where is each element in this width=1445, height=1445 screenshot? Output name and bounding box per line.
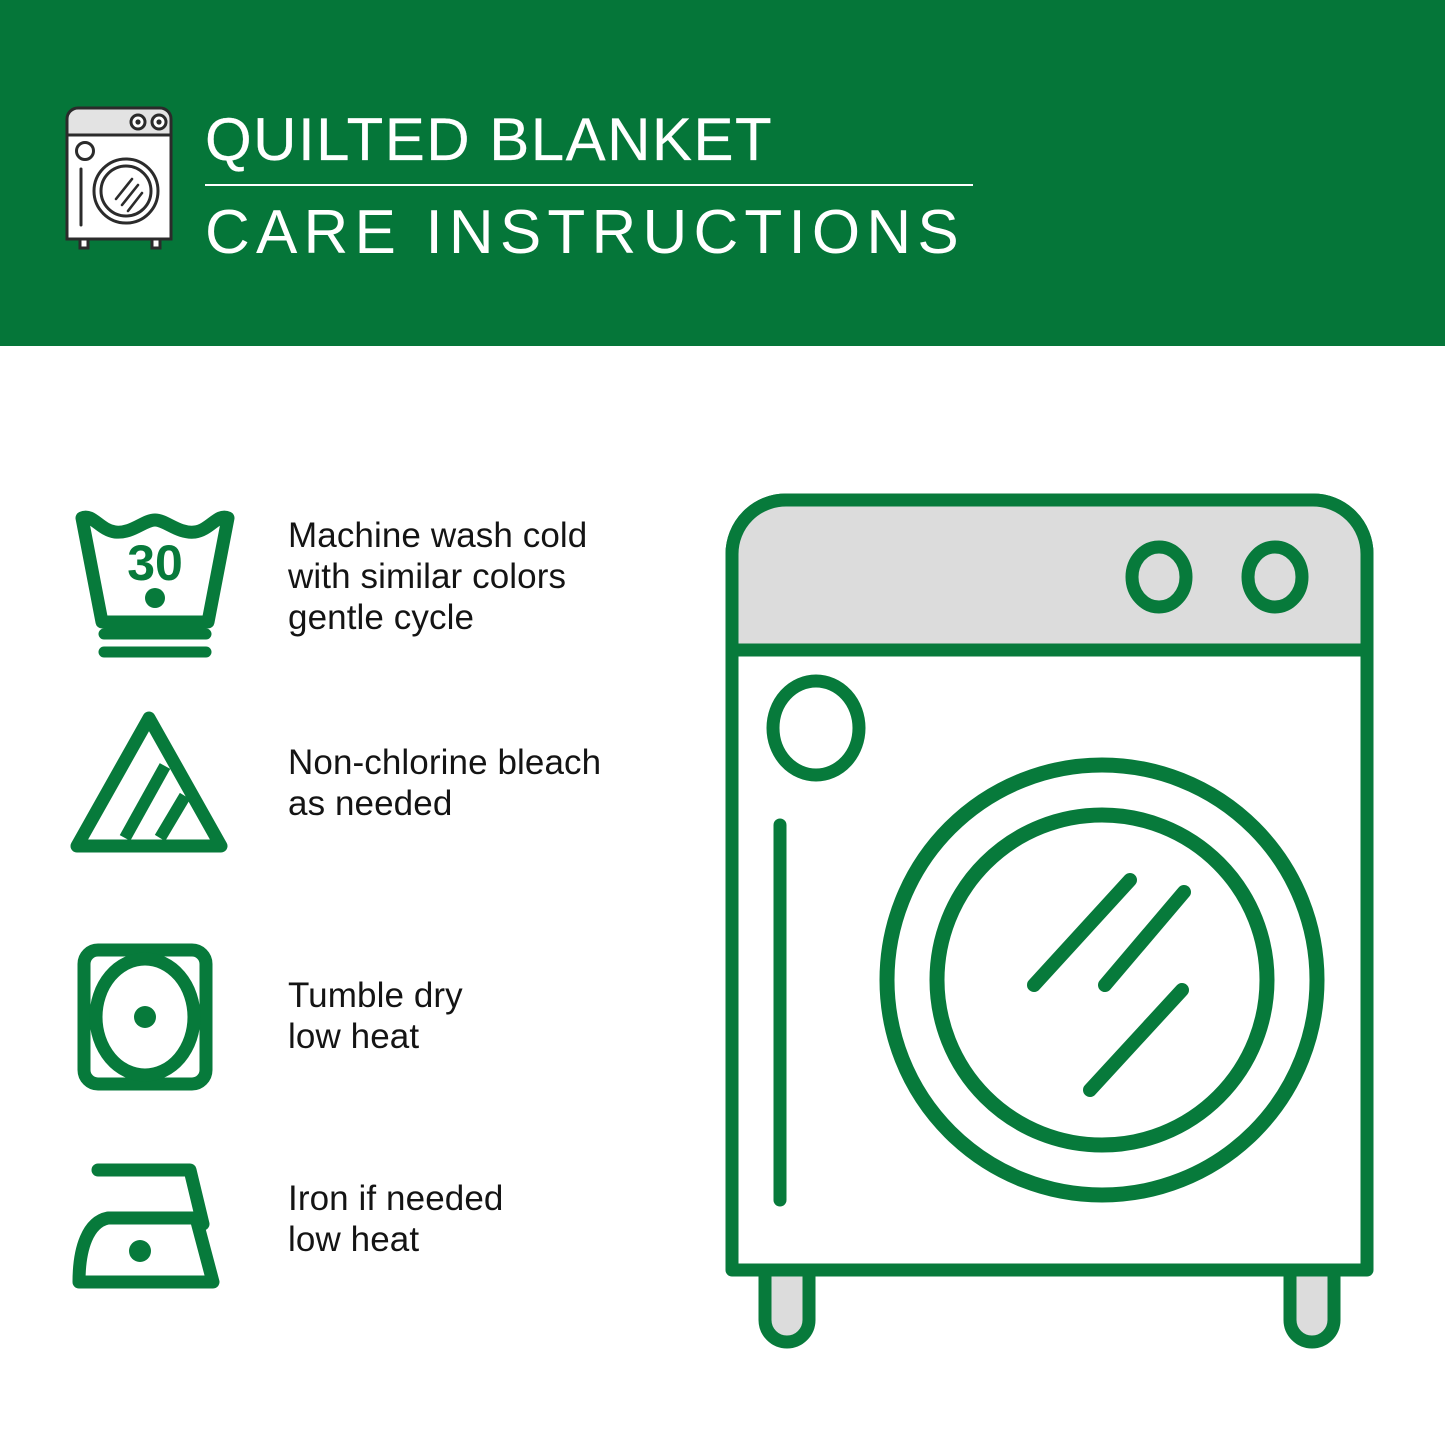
washing-machine-icon	[62, 103, 184, 251]
page-subtitle: CARE INSTRUCTIONS	[205, 196, 995, 270]
wash-tub-30-gentle-icon: 30	[70, 500, 240, 660]
care-instructions-infographic: QUILTED BLANKET CARE INSTRUCTIONS 30 Mac…	[0, 0, 1445, 1445]
care-instruction-label-1: Machine wash cold with similar colors ge…	[288, 515, 587, 638]
front-load-washing-machine-illustration	[712, 480, 1402, 1360]
wash-temperature-label: 30	[127, 535, 183, 591]
header-band: QUILTED BLANKET CARE INSTRUCTIONS	[0, 0, 1445, 346]
care-instruction-label-3: Tumble dry low heat	[288, 975, 463, 1057]
care-instruction-label-2: Non-chlorine bleach as needed	[288, 742, 601, 824]
page-title: QUILTED BLANKET	[205, 104, 995, 176]
title-divider	[205, 184, 973, 186]
care-instruction-label-4: Iron if needed low heat	[288, 1178, 503, 1260]
header-text-block: QUILTED BLANKET CARE INSTRUCTIONS	[205, 104, 995, 270]
tumble-dry-low-heat-icon	[70, 940, 240, 1100]
iron-low-heat-icon	[70, 1152, 240, 1312]
non-chlorine-bleach-triangle-icon	[70, 706, 240, 866]
